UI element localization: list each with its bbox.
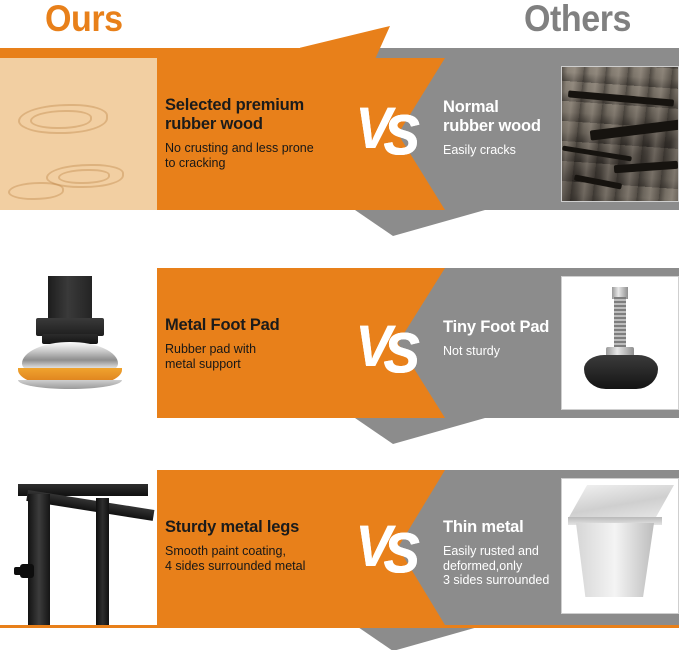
- row-2-gray-tail-icon: [355, 418, 485, 444]
- sturdy-black-metal-legs-photo: [0, 470, 157, 625]
- row-2-ours-title: Metal Foot Pad: [165, 316, 280, 335]
- row-3-gray-tail-icon: [355, 625, 485, 650]
- comparison-row-1: Selected premium rubber wood No crusting…: [0, 58, 679, 210]
- row-1-ours-title: Selected premium rubber wood: [165, 96, 314, 134]
- header-others-title: Others: [524, 0, 631, 40]
- row-3-others-text: Thin metal Easily rusted and deformed,on…: [443, 518, 549, 588]
- row-1-others-title: Normal rubber wood: [443, 98, 541, 136]
- row-2-others-text: Tiny Foot Pad Not sturdy: [443, 318, 549, 359]
- comparison-infographic: Ours Others: [0, 0, 679, 650]
- row-1-others-image: [561, 66, 679, 202]
- row-1-others-text: Normal rubber wood Easily cracks: [443, 98, 541, 158]
- row-1-ours-text: Selected premium rubber wood No crusting…: [165, 96, 314, 170]
- header-divider-bar: [0, 48, 679, 58]
- row-1-others-subtitle: Easily cracks: [443, 143, 541, 158]
- tiny-foot-pad-photo: [562, 277, 678, 409]
- premium-rubber-wood-photo: [0, 58, 157, 210]
- header-ours-title: Ours: [45, 0, 123, 40]
- svg-text:S: S: [384, 104, 419, 160]
- row-3-ours-title: Sturdy metal legs: [165, 518, 305, 537]
- row-2-ours-image: [0, 268, 157, 418]
- row-3-others-title: Thin metal: [443, 518, 549, 537]
- svg-text:S: S: [384, 522, 419, 578]
- comparison-row-3: Sturdy metal legs Smooth paint coating, …: [0, 470, 679, 625]
- row-2-others-subtitle: Not sturdy: [443, 344, 549, 359]
- divider-bar-gray: [355, 48, 679, 58]
- row-2-ours-subtitle: Rubber pad with metal support: [165, 342, 280, 371]
- row-3-ours-text: Sturdy metal legs Smooth paint coating, …: [165, 518, 305, 573]
- row-3-vs-badge: V S: [355, 516, 446, 578]
- row-1-gray-tail-icon: [355, 210, 485, 236]
- metal-foot-pad-photo: [0, 268, 157, 418]
- row-3-others-subtitle: Easily rusted and deformed,only 3 sides …: [443, 544, 549, 588]
- row-3-others-image: [561, 478, 679, 614]
- row-1-ours-image: [0, 58, 157, 210]
- cracked-charred-wood-photo: [562, 67, 678, 201]
- row-1-ours-subtitle: No crusting and less prone to cracking: [165, 141, 314, 170]
- bottom-orange-rule: [0, 625, 679, 628]
- row-2-ours-text: Metal Foot Pad Rubber pad with metal sup…: [165, 316, 280, 371]
- row-3-ours-subtitle: Smooth paint coating, 4 sides surrounded…: [165, 544, 305, 573]
- svg-text:S: S: [384, 322, 419, 378]
- row-1-vs-badge: V S: [355, 98, 446, 160]
- row-2-others-title: Tiny Foot Pad: [443, 318, 549, 337]
- row-2-others-image: [561, 276, 679, 410]
- thin-stainless-corner-photo: [562, 479, 678, 613]
- comparison-row-2: Metal Foot Pad Rubber pad with metal sup…: [0, 268, 679, 418]
- row-3-ours-image: [0, 470, 157, 625]
- row-2-vs-badge: V S: [355, 316, 446, 378]
